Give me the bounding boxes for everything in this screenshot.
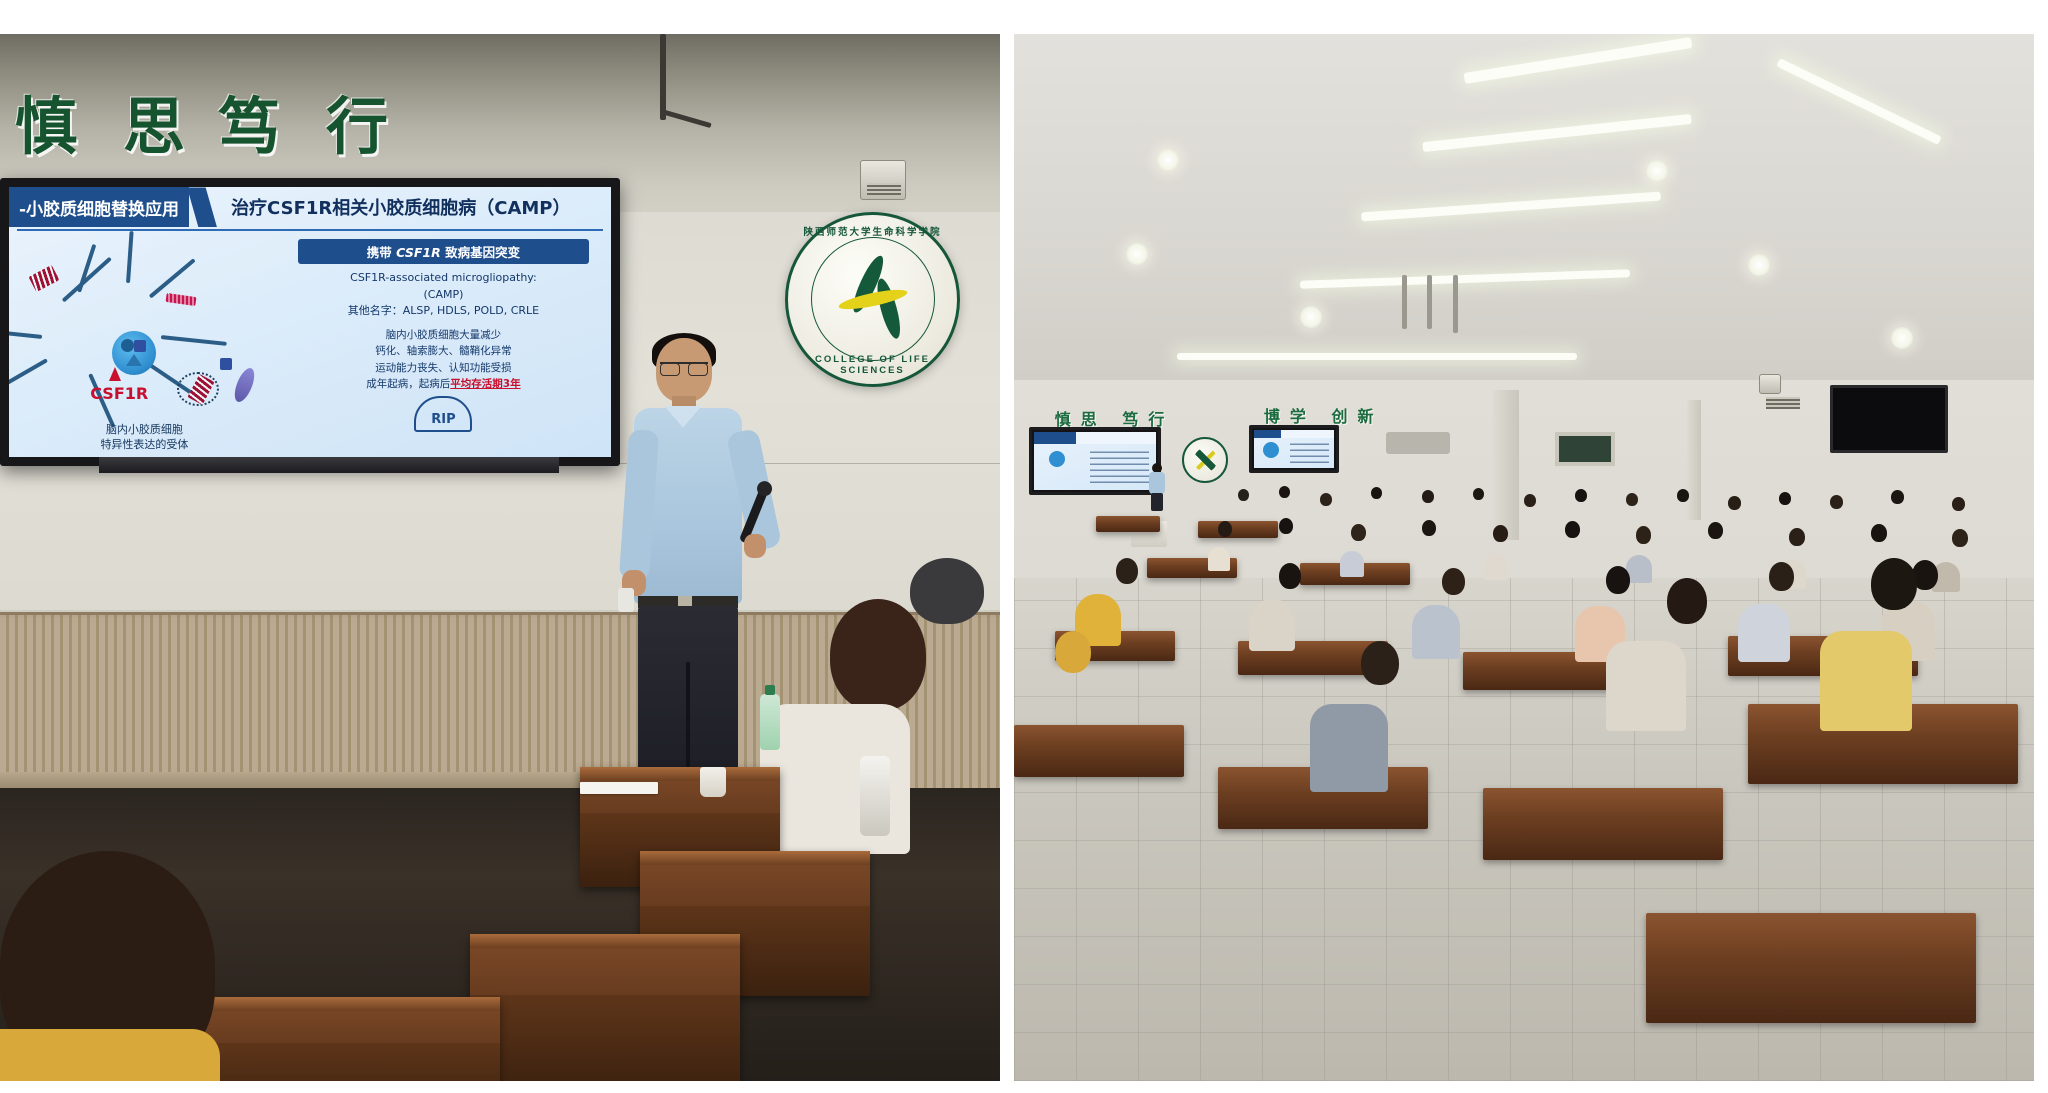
- pill-prefix: 携带: [367, 245, 396, 260]
- foreground-audience-body: [1310, 704, 1388, 792]
- csf1r-arrow-icon: [109, 367, 121, 381]
- hanging-rod: [1402, 275, 1407, 329]
- chalkboard: [1555, 432, 1615, 466]
- slide-body: CSF1R 脑内小胶质细胞 特异性表达的受体 携带 CSF1R 致病基因突变 C…: [9, 231, 611, 457]
- ceiling-light-strip: [1177, 353, 1577, 360]
- mini-slide-text-lines: [1290, 441, 1328, 463]
- mini-slide-tag: [1254, 430, 1281, 438]
- water-bottle-icon: [760, 694, 780, 750]
- audience-head: [1626, 493, 1638, 506]
- neuron-caption-line-2: 特异性表达的受体: [25, 438, 263, 453]
- calligraphy-char-2: 思: [123, 76, 187, 166]
- hanging-rod: [1453, 275, 1458, 333]
- dendrite-icon: [149, 258, 196, 298]
- slide-title: 治疗CSF1R相关小胶质细胞病（CAMP）: [219, 187, 611, 227]
- foreground-audience-head: [1055, 631, 1091, 673]
- calligraphy-char-4: 行: [326, 76, 390, 166]
- mini-slide-text-lines: [1090, 449, 1149, 483]
- audience-head: [1218, 521, 1232, 537]
- disease-aliases: 其他名字：ALSP, HDLS, POLD, CRLE: [284, 303, 603, 320]
- ceiling-rod: [660, 34, 666, 120]
- wall-mounted-tv[interactable]: [1830, 385, 1948, 453]
- pill-gene-name: CSF1R: [396, 245, 441, 260]
- receptor-stripe-icon: [166, 293, 197, 306]
- mini-slide-title: [1076, 432, 1157, 445]
- ligand-oval-icon: [230, 366, 257, 405]
- dendrite-icon: [9, 358, 48, 392]
- audience-head: [1830, 495, 1843, 509]
- neuron-caption-line-1: 脑内小胶质细胞: [25, 423, 263, 438]
- eyeglasses-icon: [660, 362, 708, 373]
- audience-head: [1524, 494, 1536, 507]
- wall-column: [1493, 390, 1519, 540]
- mini-slide-tag: [1034, 432, 1075, 445]
- ceiling-downlight-icon: [1646, 160, 1668, 182]
- audience-body: [1412, 605, 1460, 659]
- ceiling-downlight-icon: [1157, 149, 1179, 171]
- marker-square-icon: [220, 358, 232, 370]
- college-emblem: 陕西师范大学生命科学学院 COLLEGE OF LIFE SCIENCES: [785, 212, 960, 387]
- slide-subheading-pill: 携带 CSF1R 致病基因突变: [298, 239, 589, 264]
- emblem-leaf-green-b: [871, 277, 905, 341]
- projector-housing: [1386, 432, 1450, 454]
- photo-collage: 慎 思 笃 行 陕西师范大学生命科学学院 COLLEGE OF LIFE SCI…: [0, 0, 2048, 1093]
- presentation-clicker-icon: [618, 588, 634, 612]
- foreground-audience-head: [1361, 641, 1399, 685]
- mini-slide-header: [1254, 430, 1334, 438]
- audience-body: [1208, 547, 1230, 571]
- csf1r-receptor-label: CSF1R: [90, 384, 148, 403]
- mini-neuron-icon: [1263, 442, 1279, 458]
- audience-body: [1626, 555, 1652, 583]
- audience-body: [1738, 604, 1790, 662]
- presenter-figure: [620, 338, 770, 778]
- pill-suffix: 致病基因突变: [441, 245, 520, 260]
- neuron-illustration: CSF1R 脑内小胶质细胞 特异性表达的受体: [9, 231, 280, 457]
- wall-speaker-icon: [1759, 374, 1781, 394]
- paper-cup-icon: [700, 767, 726, 797]
- foreground-desk: [1014, 725, 1184, 777]
- audience-head: [1636, 526, 1651, 544]
- receptor-stripe-icon: [28, 265, 59, 292]
- wall-column: [1687, 400, 1701, 520]
- feature-line-4: 成年起病，起病后平均存活期3年: [284, 376, 603, 392]
- audience-head: [1422, 520, 1436, 536]
- slide-section-tag: -小胶质细胞替换应用: [9, 187, 189, 227]
- mini-slide-content: [1034, 432, 1156, 490]
- slide-content: -小胶质细胞替换应用 治疗CSF1R相关小胶质细胞病（CAMP）: [9, 187, 611, 457]
- audience-body: [1249, 599, 1295, 651]
- audience-head: [910, 558, 984, 624]
- calligraphy-char-3: 笃: [218, 76, 282, 166]
- lecture-desk: [470, 934, 740, 1081]
- mini-slide-content: [1254, 430, 1334, 468]
- marker-square-icon: [134, 340, 146, 352]
- neuron-caption: 脑内小胶质细胞 特异性表达的受体: [25, 423, 263, 453]
- audience-head: [1789, 528, 1805, 546]
- slide-header: -小胶质细胞替换应用 治疗CSF1R相关小胶质细胞病（CAMP）: [9, 187, 611, 227]
- audience-head: [1708, 522, 1723, 539]
- mini-slide-title: [1281, 430, 1334, 438]
- audience-head: [1952, 497, 1965, 511]
- disease-features-list: 脑内小胶质细胞大量减少 钙化、轴索膨大、髓鞘化异常 运动能力丧失、认知功能受损 …: [284, 327, 603, 392]
- foreground-audience-body: [1606, 641, 1686, 731]
- emblem-arc-bottom-text: COLLEGE OF LIFE SCIENCES: [788, 354, 957, 376]
- ceiling-downlight-icon: [1300, 306, 1322, 328]
- survival-prefix: 成年起病，起病后: [366, 378, 450, 390]
- right-projection-screen[interactable]: [1249, 425, 1339, 473]
- presentation-display[interactable]: -小胶质细胞替换应用 治疗CSF1R相关小胶质细胞病（CAMP）: [0, 178, 620, 466]
- dendrite-icon: [78, 244, 97, 293]
- audience-head: [1351, 524, 1366, 541]
- foreground-audience-head: [1871, 558, 1917, 610]
- audience-head: [1565, 521, 1580, 538]
- audience-body: [1340, 551, 1364, 577]
- audience-head: [1728, 496, 1741, 510]
- wall-calligraphy: 慎 思 笃 行: [15, 76, 359, 166]
- feature-line-1: 脑内小胶质细胞大量减少: [284, 327, 603, 343]
- hanging-rod: [1427, 275, 1432, 329]
- paper-sheet: [580, 782, 658, 794]
- audience-desk: [1198, 521, 1278, 538]
- feature-line-2: 钙化、轴索膨大、髓鞘化异常: [284, 343, 603, 359]
- survival-highlight: 平均存活期3年: [450, 378, 520, 390]
- audience-head: [1442, 568, 1465, 595]
- foreground-desk: [1646, 913, 1976, 1023]
- distant-presenter-figure: [1149, 463, 1165, 511]
- audience-head: [1779, 492, 1791, 505]
- emblem-arc-top-text: 陕西师范大学生命科学学院: [788, 224, 957, 238]
- audience-desk: [1096, 516, 1160, 532]
- feature-line-3: 运动能力丧失、认知功能受损: [284, 360, 603, 376]
- presenter-right-hand: [744, 534, 766, 558]
- audience-head: [830, 599, 926, 711]
- foreground-desk: [1483, 788, 1723, 860]
- slide-text-column: 携带 CSF1R 致病基因突变 CSF1R-associated microgl…: [280, 231, 611, 457]
- foreground-audience-body: [0, 1029, 220, 1081]
- lecture-desk: [200, 997, 500, 1081]
- calligraphy-char-1: 慎: [15, 76, 79, 166]
- audience-body: [1483, 553, 1508, 580]
- emblem-inner-ring: [811, 237, 935, 361]
- foreground-audience-body: [1820, 631, 1912, 731]
- thermos-icon: [860, 756, 890, 836]
- rip-tombstone-icon: RIP: [414, 396, 472, 432]
- audience-head: [1371, 487, 1382, 499]
- dendrite-icon: [160, 335, 226, 346]
- foreground-audience-head: [1667, 578, 1707, 624]
- wall-speaker-icon: [860, 160, 906, 200]
- display-bezel-bar: [99, 457, 559, 473]
- mini-slide-header: [1034, 432, 1156, 445]
- audience-head: [1116, 558, 1138, 584]
- disease-name-english: CSF1R-associated microgliopathy:: [284, 270, 603, 287]
- audience-head: [1279, 518, 1293, 534]
- dendrite-icon: [126, 231, 134, 283]
- left-projection-screen[interactable]: [1029, 427, 1161, 495]
- presenter-trousers: [638, 606, 738, 778]
- right-photo-panel: 慎思 笃行 博学 创新: [1014, 34, 2034, 1081]
- disease-abbreviation: (CAMP): [284, 287, 603, 304]
- audience-head: [1493, 525, 1508, 542]
- audience-head: [1320, 493, 1332, 506]
- slide-slash-divider: [187, 187, 217, 227]
- audience-head: [1769, 562, 1794, 591]
- audience-head: [1606, 566, 1630, 594]
- mini-neuron-icon: [1049, 451, 1065, 467]
- audience-head: [1871, 524, 1887, 542]
- right-wall-calligraphy-right: 博学 创新: [1264, 403, 1384, 427]
- left-photo-panel: 慎 思 笃 行 陕西师范大学生命科学学院 COLLEGE OF LIFE SCI…: [0, 34, 1000, 1081]
- dendrite-icon: [9, 330, 42, 340]
- audience-head: [1279, 563, 1301, 589]
